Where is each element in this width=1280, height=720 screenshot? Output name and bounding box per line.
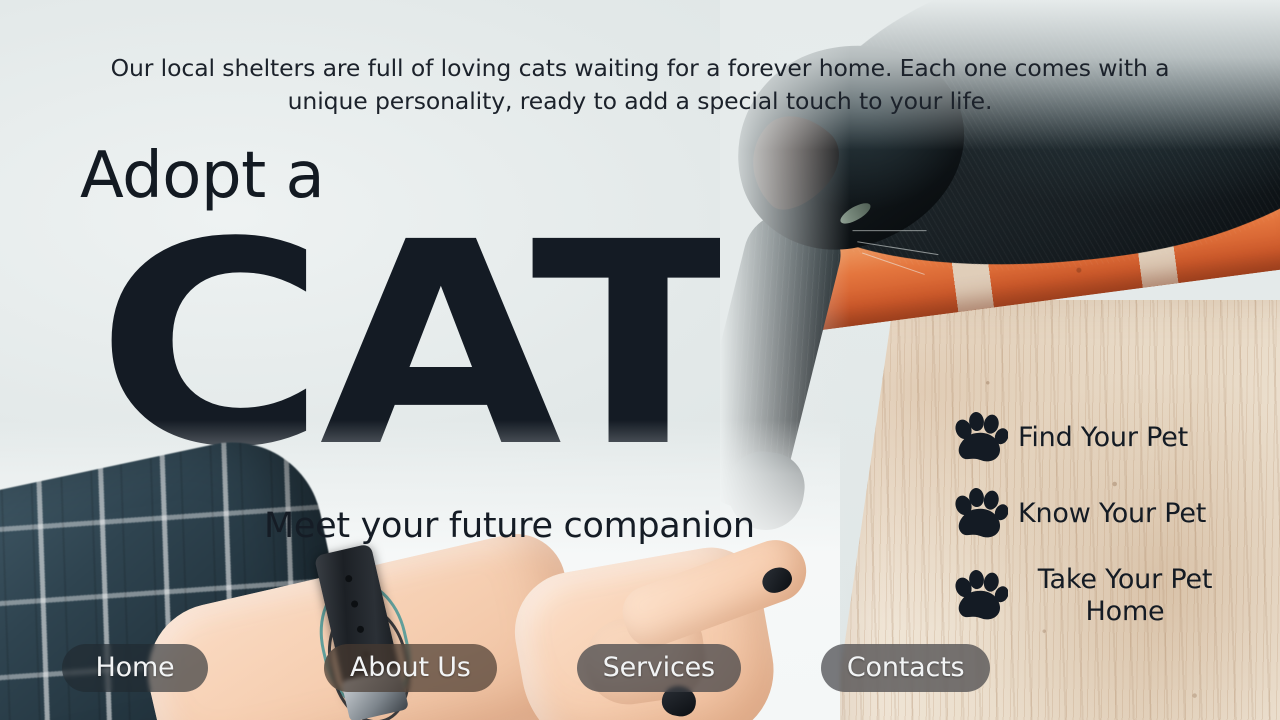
paw-print-icon [952, 488, 1008, 540]
feature-item-know[interactable]: Know Your Pet [952, 488, 1232, 540]
feature-item-take-home[interactable]: Take Your Pet Home [952, 564, 1232, 628]
hero-banner: CAT Our local shelters a [0, 0, 1280, 720]
feature-label: Find Your Pet [1018, 422, 1188, 454]
nav-item-about-us[interactable]: About Us [324, 644, 497, 692]
headline-kicker: Adopt a [80, 140, 324, 212]
feature-label: Take Your Pet Home [1018, 564, 1232, 628]
cat-whisker [853, 230, 927, 231]
nav-item-services[interactable]: Services [577, 644, 741, 692]
paw-print-icon [952, 412, 1008, 464]
feature-list: Find Your Pet Know Your Pet Take Your Pe… [952, 412, 1232, 628]
intro-paragraph: Our local shelters are full of loving ca… [88, 52, 1192, 118]
tagline: Meet your future companion [264, 504, 755, 548]
feature-item-find[interactable]: Find Your Pet [952, 412, 1232, 464]
nav-item-home[interactable]: Home [62, 644, 208, 692]
paw-print-icon [952, 570, 1008, 622]
nav-item-contacts[interactable]: Contacts [821, 644, 991, 692]
feature-label: Know Your Pet [1018, 498, 1206, 530]
cat-eye [837, 199, 873, 227]
main-navigation: Home About Us Services Contacts [62, 644, 990, 692]
